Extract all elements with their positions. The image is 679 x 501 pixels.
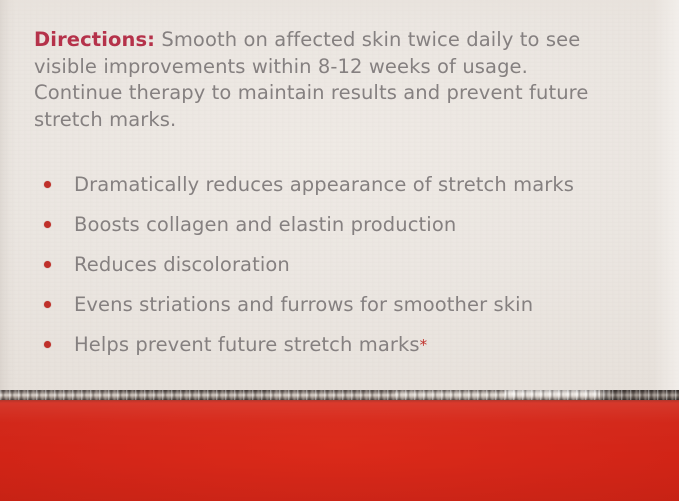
- metallic-foil-strip: [0, 390, 679, 400]
- benefit-text: Reduces discoloration: [74, 253, 290, 277]
- list-item: Evens striations and furrows for smoothe…: [44, 285, 644, 325]
- paper-left-edge-shading: [0, 0, 16, 391]
- list-item: Dramatically reduces appearance of stret…: [44, 165, 644, 205]
- product-package-panel: Directions: Smooth on affected skin twic…: [0, 0, 679, 501]
- bullet-dot-icon: [44, 181, 51, 188]
- foil-speckle-texture: [0, 390, 679, 400]
- bullet-dot-icon: [44, 341, 51, 348]
- list-item: Boosts collagen and elastin production: [44, 205, 644, 245]
- benefit-list: Dramatically reduces appearance of stret…: [44, 165, 644, 365]
- paper-right-edge-shading: [653, 0, 679, 391]
- list-item: Helps prevent future stretch marks *: [44, 325, 644, 365]
- red-band-top-edge: [0, 400, 679, 403]
- benefit-text: Helps prevent future stretch marks: [74, 333, 420, 357]
- directions-paragraph: Directions: Smooth on affected skin twic…: [34, 27, 619, 133]
- red-band-sheen: [0, 400, 679, 501]
- bullet-dot-icon: [44, 221, 51, 228]
- benefit-text: Dramatically reduces appearance of stret…: [74, 173, 574, 197]
- bullet-dot-icon: [44, 301, 51, 308]
- bullet-dot-icon: [44, 261, 51, 268]
- paper-top-shading: [0, 0, 679, 22]
- benefit-text: Boosts collagen and elastin production: [74, 213, 456, 237]
- directions-block: Directions: Smooth on affected skin twic…: [34, 27, 634, 133]
- list-item: Reduces discoloration: [44, 245, 644, 285]
- benefit-text: Evens striations and furrows for smoothe…: [74, 293, 533, 317]
- directions-label: Directions:: [34, 28, 155, 51]
- red-color-band: [0, 400, 679, 501]
